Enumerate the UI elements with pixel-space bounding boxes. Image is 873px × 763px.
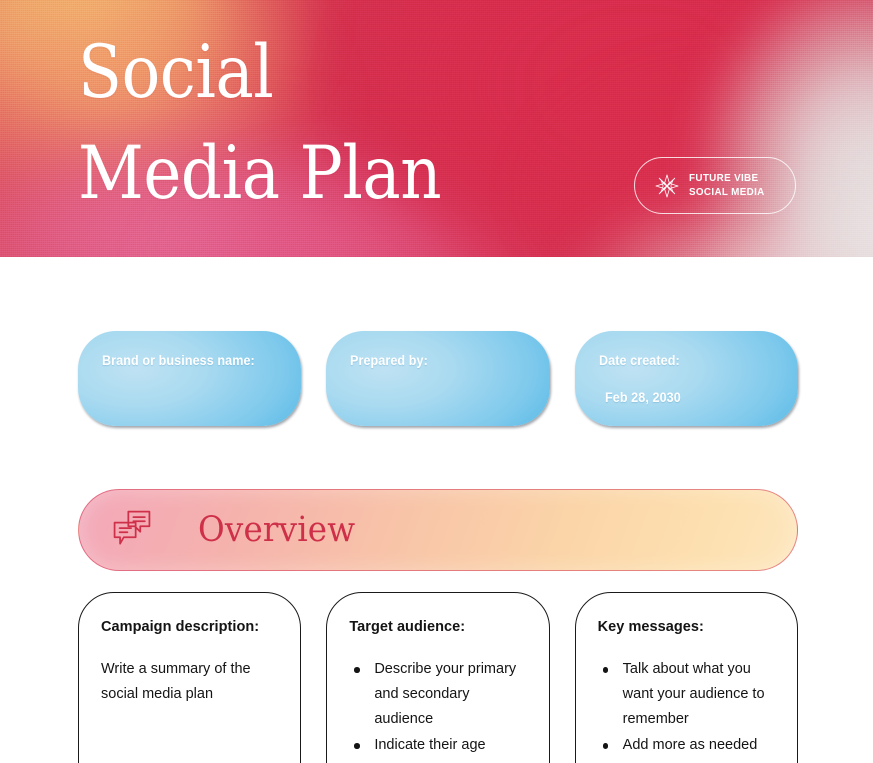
chat-bubbles-icon — [110, 507, 154, 551]
info-pill-row: Brand or business name: Prepared by: Dat… — [78, 331, 798, 426]
card-body[interactable]: Talk about what you want your audience t… — [598, 657, 777, 758]
gradient-blob-grey — [690, 0, 873, 257]
pill-label: Brand or business name: — [102, 353, 287, 368]
pill-label: Prepared by: — [350, 353, 535, 368]
content-card-row: Campaign description: Write a summary of… — [78, 592, 798, 763]
info-pill-brand-name[interactable]: Brand or business name: — [78, 331, 301, 426]
card-paragraph: Write a summary of the social media plan — [101, 657, 280, 707]
card-key-messages[interactable]: Key messages: Talk about what you want y… — [575, 592, 798, 763]
list-item: Add more as needed — [598, 733, 777, 758]
pill-label: Date created: — [599, 353, 784, 368]
pill-content: Prepared by: — [326, 331, 549, 426]
overview-section-banner: Overview — [78, 489, 798, 571]
logo-badge: FUTURE VIBE SOCIAL MEDIA — [634, 157, 796, 214]
card-body[interactable]: Describe your primary and secondary audi… — [349, 657, 528, 763]
card-title: Key messages: — [598, 619, 777, 635]
list-item: Describe your primary and secondary audi… — [349, 657, 528, 732]
card-campaign-description[interactable]: Campaign description: Write a summary of… — [78, 592, 301, 763]
info-pill-date-created[interactable]: Date created: Feb 28, 2030 — [575, 331, 798, 426]
pill-value[interactable]: Feb 28, 2030 — [605, 390, 785, 405]
page-title: Social Media Plan — [78, 22, 571, 224]
overview-title: Overview — [198, 510, 355, 550]
pill-content: Date created: Feb 28, 2030 — [575, 331, 798, 426]
list-item: Indicate their age range, gender, income — [349, 733, 528, 763]
eight-point-star-icon — [654, 173, 680, 199]
card-bullet-list: Describe your primary and secondary audi… — [349, 657, 528, 763]
header-banner: Social Media Plan — [0, 0, 873, 257]
pill-content: Brand or business name: — [78, 331, 301, 426]
logo-text: FUTURE VIBE SOCIAL MEDIA — [689, 172, 765, 199]
card-target-audience[interactable]: Target audience: Describe your primary a… — [326, 592, 549, 763]
social-media-plan-page: Social Media Plan — [0, 0, 873, 763]
card-bullet-list: Talk about what you want your audience t… — [598, 657, 777, 758]
list-item: Talk about what you want your audience t… — [598, 657, 777, 732]
info-pill-prepared-by[interactable]: Prepared by: — [326, 331, 549, 426]
card-body[interactable]: Write a summary of the social media plan — [101, 657, 280, 707]
card-title: Campaign description: — [101, 619, 280, 635]
card-title: Target audience: — [349, 619, 528, 635]
